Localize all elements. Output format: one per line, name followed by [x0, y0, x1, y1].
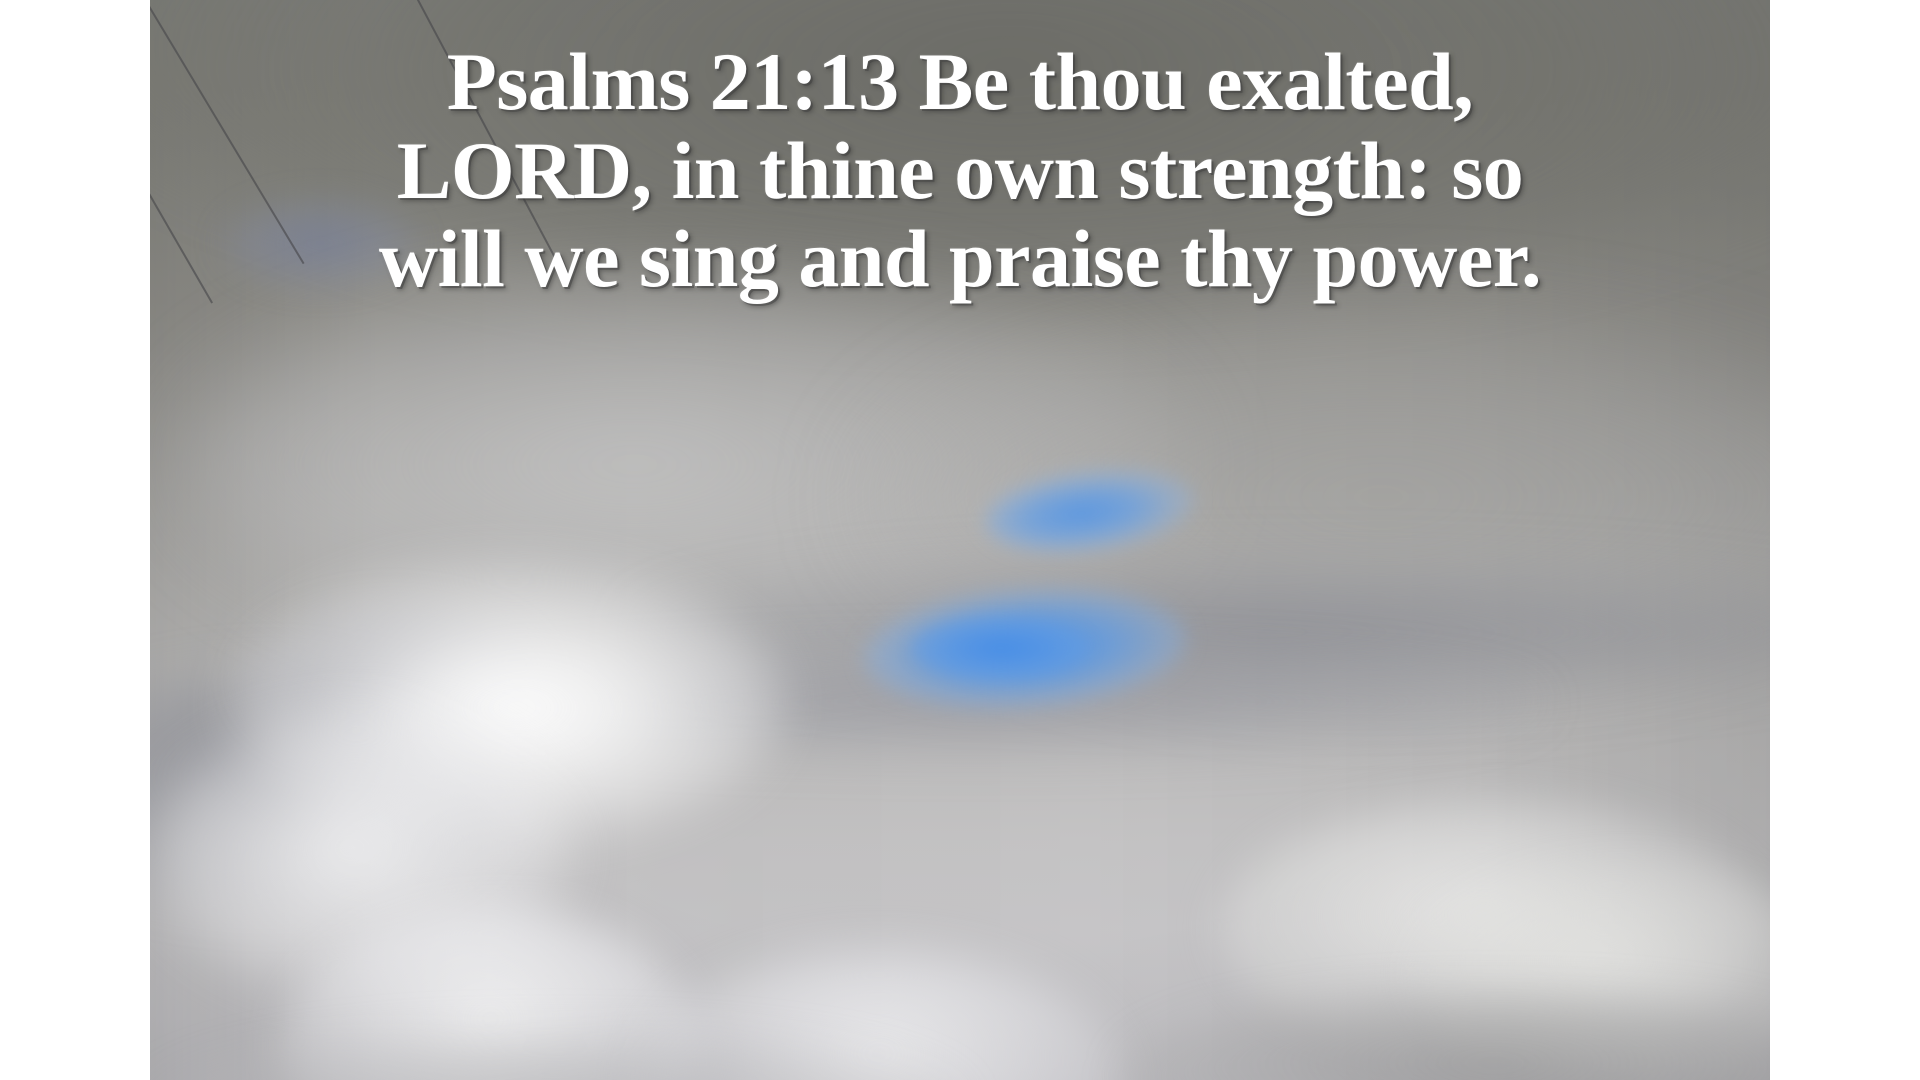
scripture-verse-overlay: Psalms 21:13 Be thou exalted, LORD, in t…: [150, 38, 1770, 304]
screenshot-root: Psalms 21:13 Be thou exalted, LORD, in t…: [0, 0, 1920, 1080]
letterbox-bar-left: [0, 0, 150, 1080]
letterbox-bar-right: [1770, 0, 1920, 1080]
